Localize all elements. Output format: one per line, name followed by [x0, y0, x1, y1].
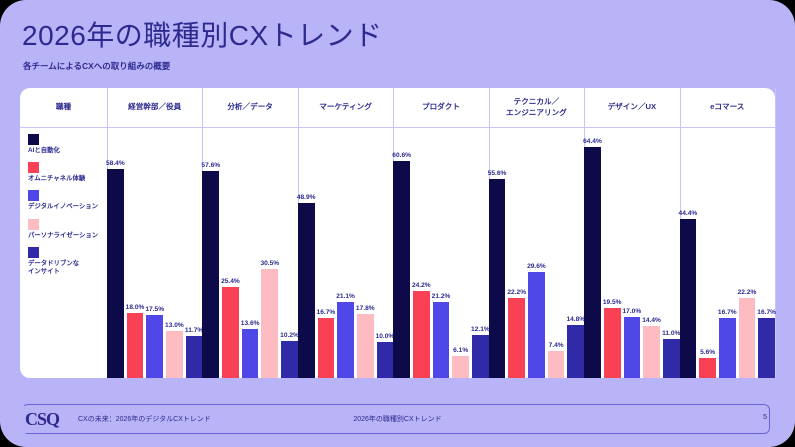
bar-value-label: 16.7%	[718, 309, 737, 316]
bar-column[interactable]: 14.4%	[643, 127, 660, 378]
bar-group-1: 57.6%25.4%13.6%30.5%10.2%	[202, 127, 297, 378]
bar-group-bars: 58.4%18.0%17.5%13.0%11.7%	[107, 127, 202, 378]
bar[interactable]	[604, 308, 621, 378]
bar-group-0: 58.4%18.0%17.5%13.0%11.7%	[107, 127, 202, 378]
bar-value-label: 7.4%	[549, 342, 564, 349]
bar[interactable]	[508, 298, 525, 378]
legend-swatch-icon	[28, 162, 39, 173]
bar-column[interactable]: 22.2%	[508, 127, 525, 378]
bar[interactable]	[413, 291, 430, 378]
bar-column[interactable]: 16.7%	[719, 127, 736, 378]
bar-value-label: 30.5%	[260, 260, 279, 267]
bar[interactable]	[337, 302, 354, 378]
bar[interactable]	[528, 272, 545, 378]
bar-column[interactable]: 16.7%	[318, 127, 335, 378]
bar[interactable]	[472, 335, 489, 378]
bar-value-label: 14.8%	[566, 316, 585, 323]
footer-page-number: 5	[763, 414, 767, 421]
bar-group-3: 60.6%24.2%21.2%6.1%12.1%	[393, 127, 488, 378]
column-header-1: 分析／データ	[202, 88, 297, 127]
bar-column[interactable]: 64.4%	[584, 127, 601, 378]
footer-center-text: 2026年の職種別CXトレンド	[0, 414, 795, 424]
legend-item-label: オムニチャネル体験	[28, 175, 114, 183]
legend-item-label: パーソナライゼーション	[28, 232, 114, 240]
bar[interactable]	[127, 313, 144, 378]
bar[interactable]	[298, 203, 315, 378]
bar[interactable]	[433, 302, 450, 378]
bar[interactable]	[719, 318, 736, 378]
bar-value-label: 16.7%	[757, 309, 776, 316]
bar-value-label: 18.0%	[126, 304, 145, 311]
legend-item-1[interactable]: オムニチャネル体験	[28, 162, 114, 183]
bar-column[interactable]: 12.1%	[472, 127, 489, 378]
legend-item-label: データドリブンなインサイト	[28, 260, 114, 276]
bar-value-label: 64.4%	[583, 138, 602, 145]
bar-value-label: 16.7%	[317, 309, 336, 316]
bar[interactable]	[166, 331, 183, 378]
column-header-2: マーケティング	[298, 88, 393, 127]
column-header-6: eコマース	[680, 88, 775, 127]
legend-swatch-icon	[28, 247, 39, 258]
bar-value-label: 57.6%	[201, 162, 220, 169]
bar-value-label: 11.0%	[662, 330, 680, 337]
legend-item-0[interactable]: AIと自動化	[28, 134, 114, 155]
bar-value-label: 6.1%	[453, 347, 468, 354]
bar[interactable]	[393, 161, 410, 378]
column-divider	[775, 88, 776, 378]
bar-value-label: 48.9%	[297, 194, 316, 201]
bar-column[interactable]: 55.6%	[489, 127, 506, 378]
bar-column[interactable]: 6.1%	[452, 127, 469, 378]
bar-column[interactable]: 57.6%	[202, 127, 219, 378]
bar-value-label: 19.5%	[603, 299, 622, 306]
bar-group-bars: 60.6%24.2%21.2%6.1%12.1%	[393, 127, 488, 378]
bar-column[interactable]: 48.9%	[298, 127, 315, 378]
slide: 2026年の職種別CXトレンド 各チームによるCXへの取り組みの概要 職種 経営…	[0, 0, 795, 447]
legend-swatch-icon	[28, 134, 39, 145]
bar-group-bars: 64.4%19.5%17.0%14.4%11.0%	[584, 127, 679, 378]
bar-column[interactable]: 11.0%	[663, 127, 680, 378]
bar[interactable]	[699, 358, 716, 378]
bar-column[interactable]: 58.4%	[107, 127, 124, 378]
column-header-0: 経営幹部／役員	[107, 88, 202, 127]
bar[interactable]	[107, 169, 124, 378]
column-header-label: 分析／データ	[227, 102, 273, 112]
legend-swatch-icon	[28, 219, 39, 230]
bar-value-label: 22.2%	[738, 289, 757, 296]
bar[interactable]	[318, 318, 335, 378]
bar[interactable]	[680, 219, 697, 378]
bar-value-label: 17.5%	[145, 306, 164, 313]
bar-value-label: 5.6%	[700, 349, 715, 356]
bar-column[interactable]: 44.4%	[680, 127, 697, 378]
bar[interactable]	[663, 339, 680, 378]
bar[interactable]	[186, 336, 203, 378]
bar-group-bars: 44.4%5.6%16.7%22.2%16.7%	[680, 127, 775, 378]
bar-value-label: 14.4%	[642, 317, 661, 324]
bar-column[interactable]: 17.8%	[357, 127, 374, 378]
bar-value-label: 24.2%	[412, 282, 431, 289]
column-header-label: プロダクト	[422, 102, 460, 112]
bar[interactable]	[146, 315, 163, 378]
bar-column[interactable]: 14.8%	[567, 127, 584, 378]
bar[interactable]	[202, 171, 219, 378]
bar-column[interactable]: 17.0%	[624, 127, 641, 378]
bar-value-label: 44.4%	[679, 210, 698, 217]
bar-column[interactable]: 17.5%	[146, 127, 163, 378]
column-header-label: 経営幹部／役員	[128, 102, 181, 112]
bar-value-label: 11.7%	[185, 327, 203, 334]
bar-column[interactable]: 18.0%	[127, 127, 144, 378]
bar-value-label: 60.6%	[392, 152, 411, 159]
column-header-label: eコマース	[710, 102, 744, 112]
chart-legend: AIと自動化オムニチャネル体験デジタルイノベーションパーソナライゼーションデータ…	[28, 134, 114, 283]
column-header-rowlabel: 職種	[20, 88, 107, 127]
bar-value-label: 13.0%	[165, 322, 184, 329]
bar-column[interactable]: 16.7%	[758, 127, 775, 378]
bar-value-label: 10.2%	[280, 332, 299, 339]
bar-column[interactable]: 24.2%	[413, 127, 430, 378]
bar-column[interactable]: 5.6%	[699, 127, 716, 378]
legend-swatch-icon	[28, 190, 39, 201]
bar-group-2: 48.9%16.7%21.1%17.8%10.0%	[298, 127, 393, 378]
column-header-3: プロダクト	[393, 88, 488, 127]
bar-value-label: 10.0%	[376, 333, 395, 340]
bar-value-label: 29.6%	[527, 263, 546, 270]
bar-value-label: 55.6%	[488, 170, 507, 177]
column-header-label: テクニカル／エンジニアリング	[506, 97, 567, 118]
column-header-label: デザイン／UX	[608, 102, 657, 112]
bar[interactable]	[548, 351, 565, 378]
bar-value-label: 21.1%	[336, 293, 355, 300]
bar[interactable]	[739, 298, 756, 378]
bar[interactable]	[567, 325, 584, 378]
page-subtitle: 各チームによるCXへの取り組みの概要	[23, 60, 170, 72]
bar-value-label: 25.4%	[221, 278, 240, 285]
bar[interactable]	[377, 342, 394, 378]
legend-item-label: デジタルイノベーション	[28, 203, 114, 211]
bar-value-label: 58.4%	[106, 160, 125, 167]
bar-column[interactable]: 13.0%	[166, 127, 183, 378]
bar-value-label: 12.1%	[471, 326, 490, 333]
bar[interactable]	[261, 269, 278, 378]
bar[interactable]	[357, 314, 374, 378]
bar[interactable]	[281, 341, 298, 378]
bar-column[interactable]: 22.2%	[739, 127, 756, 378]
bar-column[interactable]: 25.4%	[222, 127, 239, 378]
bar-value-label: 22.2%	[507, 289, 526, 296]
bar-group-5: 64.4%19.5%17.0%14.4%11.0%	[584, 127, 679, 378]
legend-item-label: AIと自動化	[28, 147, 114, 155]
bar-group-bars: 57.6%25.4%13.6%30.5%10.2%	[202, 127, 297, 378]
column-header-5: デザイン／UX	[584, 88, 679, 127]
bar-column[interactable]: 21.1%	[337, 127, 354, 378]
bar-column[interactable]: 7.4%	[548, 127, 565, 378]
bar-value-label: 17.8%	[356, 305, 375, 312]
bar-column[interactable]: 29.6%	[528, 127, 545, 378]
bar[interactable]	[584, 147, 601, 378]
bar-column[interactable]: 19.5%	[604, 127, 621, 378]
bar-column[interactable]: 30.5%	[261, 127, 278, 378]
bar-group-6: 44.4%5.6%16.7%22.2%16.7%	[680, 127, 775, 378]
bar-value-label: 21.2%	[432, 293, 451, 300]
bar-column[interactable]: 10.2%	[281, 127, 298, 378]
bar-group-bars: 48.9%16.7%21.1%17.8%10.0%	[298, 127, 393, 378]
bar[interactable]	[222, 287, 239, 378]
bar[interactable]	[242, 329, 259, 378]
bar-column[interactable]: 11.7%	[186, 127, 203, 378]
bar-group-bars: 55.6%22.2%29.6%7.4%14.8%	[489, 127, 584, 378]
column-header-label: 職種	[56, 102, 71, 112]
bar-value-label: 13.6%	[241, 320, 260, 327]
bar[interactable]	[489, 179, 506, 378]
legend-item-4[interactable]: データドリブンなインサイト	[28, 247, 114, 276]
bar[interactable]	[758, 318, 775, 378]
legend-item-2[interactable]: デジタルイノベーション	[28, 190, 114, 211]
bar-column[interactable]: 60.6%	[393, 127, 410, 378]
legend-item-3[interactable]: パーソナライゼーション	[28, 219, 114, 240]
bar-column[interactable]: 13.6%	[242, 127, 259, 378]
bar-column[interactable]: 10.0%	[377, 127, 394, 378]
chart-panel: 職種 経営幹部／役員分析／データマーケティングプロダクトテクニカル／エンジニアリ…	[20, 88, 775, 378]
bar-group-4: 55.6%22.2%29.6%7.4%14.8%	[489, 127, 584, 378]
bar-column[interactable]: 21.2%	[433, 127, 450, 378]
column-header-4: テクニカル／エンジニアリング	[489, 88, 584, 127]
bar[interactable]	[624, 317, 641, 378]
bar[interactable]	[643, 326, 660, 378]
page-title: 2026年の職種別CXトレンド	[22, 14, 383, 54]
bar[interactable]	[452, 356, 469, 378]
bar-value-label: 17.0%	[623, 308, 642, 315]
column-header-label: マーケティング	[319, 102, 372, 112]
